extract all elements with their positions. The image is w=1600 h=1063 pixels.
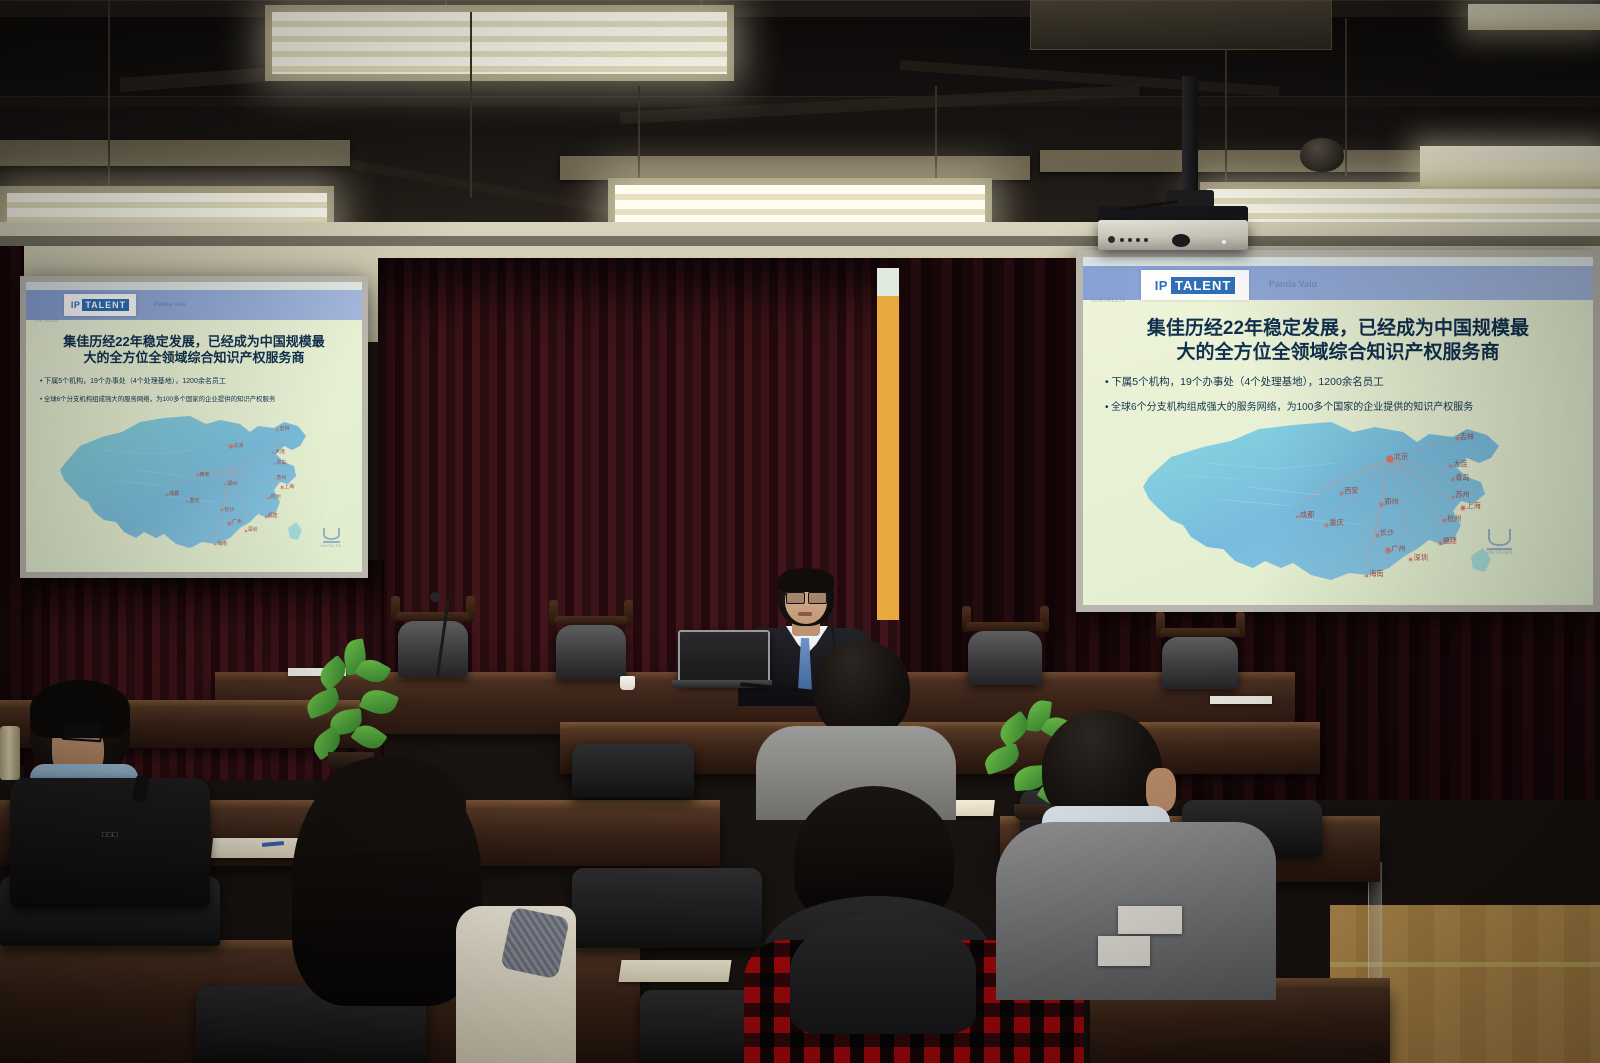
ceiling-speaker (1300, 138, 1344, 172)
front-desk-paper (618, 960, 731, 982)
map-city-label: 海南 (217, 540, 227, 547)
logo-talent-text: TALENT (82, 299, 129, 311)
map-city-label: 郑州 (227, 480, 237, 487)
map-city-dot (268, 497, 270, 499)
slide-title-left: 集佳历经22年稳定发展，已经成为中国规模最 大的全方位全领域综合知识产权服务商 (26, 334, 362, 366)
china-map-right: 吉林北京大连青岛西安郑州苏州上海成都重庆杭州长沙广州深圳福建海南 (1119, 415, 1539, 597)
map-city-dot (1387, 456, 1393, 462)
map-city-label: 福建 (268, 512, 278, 519)
map-city-label: 广州 (232, 518, 242, 525)
projection-screen-left-frame: IP TALENT UNITALEN Panda Valu 集佳历经22年稳定发… (20, 276, 368, 578)
map-city-dot (1456, 437, 1459, 440)
projection-screen-left: IP TALENT UNITALEN Panda Valu 集佳历经22年稳定发… (26, 282, 362, 572)
projection-screen-right-frame: IP TALENT UNITALEN Panda Valu 集佳历经22年稳定发… (1076, 250, 1600, 612)
slide-title-line2-left: 大的全方位全领域综合知识产权服务商 (40, 350, 348, 366)
backpack-logo: □□□ (102, 830, 118, 839)
presentation-room-photo: IP TALENT UNITALEN Panda Valu 集佳历经22年稳定发… (0, 0, 1600, 1063)
map-city-label: 广州 (1391, 544, 1405, 554)
map-city-dot (1376, 534, 1379, 537)
map-city-dot (265, 516, 267, 518)
map-city-label: 上海 (1466, 501, 1480, 511)
slide-title-line1-right: 集佳历经22年稳定发展，已经成为中国规模最 (1105, 317, 1571, 341)
map-city-label: 上海 (284, 483, 294, 490)
stage-curtain-dark-right (900, 258, 1080, 678)
map-city-dot (1386, 548, 1391, 553)
map-city-label: 青岛 (1455, 473, 1469, 483)
slide-bullet2-left: 全球6个分支机构组成强大的服务网络，为100多个国家的企业提供的知识产权服务 (40, 394, 275, 403)
map-city-dot (1340, 492, 1343, 495)
logo-watermark-right: UNITALEN (1091, 297, 1125, 304)
slide-bullet1-right: 下属5个机构，19个办事处（4个处理基地），1200余名员工 (1105, 374, 1384, 389)
audience-3-head (814, 640, 910, 738)
map-city-dot (1439, 542, 1442, 545)
hvac-duct (1030, 0, 1332, 50)
map-city-label: 大连 (275, 448, 285, 455)
map-city-label: 深圳 (1414, 553, 1428, 563)
presenter-mouth (798, 612, 812, 616)
slide-title-right: 集佳历经22年稳定发展，已经成为中国规模最 大的全方位全领域综合知识产权服务商 (1083, 317, 1593, 364)
ceiling-slab-left (0, 140, 350, 166)
brand-logo-right: IP TALENT (1141, 270, 1249, 300)
map-city-label: 重庆 (1329, 518, 1343, 528)
ceiling-slab-center (560, 156, 1030, 180)
map-city-label: 杭州 (1447, 514, 1461, 524)
map-city-label: 西安 (1344, 486, 1358, 496)
map-city-label: 青岛 (276, 459, 286, 466)
map-city-dot (281, 486, 283, 488)
slide-title-line2-right: 大的全方位全领域综合知识产权服务商 (1105, 341, 1571, 365)
audience-4-hood-front (790, 914, 976, 1034)
presenter-glasses-right (808, 592, 827, 604)
microphone-head (430, 592, 440, 602)
right-desk-paper (1098, 936, 1150, 966)
projector-pipe (1182, 76, 1198, 196)
audience-5-papers (1118, 906, 1182, 934)
china-map-left: 吉林北京大连青岛西安郑州苏州上海成都重庆杭州长沙广州深圳福建海南 (44, 410, 334, 562)
map-city-label: 吉林 (279, 425, 289, 432)
map-city-label: 大连 (1453, 459, 1467, 469)
logo-partner-right: Panda Valu (1269, 279, 1317, 289)
logo-ip-text-right: IP (1155, 278, 1168, 293)
slide-bullet2-right: 全球6个分支机构组成强大的服务网络，为100多个国家的企业提供的知识产权服务 (1105, 398, 1473, 413)
audience-1-glasses (61, 721, 102, 743)
empty-chair-3 (572, 868, 762, 948)
map-city-label: 长沙 (1380, 528, 1394, 538)
logo-partner-left: Panda Valu (154, 302, 186, 308)
slide-watermark-right: UNITALEN (1475, 529, 1523, 556)
logo-ip-text: IP (71, 300, 81, 310)
presenter-hair (778, 568, 834, 592)
map-city-label: 成都 (169, 490, 179, 497)
map-city-label: 北京 (1394, 452, 1408, 462)
map-city-label: 福建 (1443, 536, 1457, 546)
map-city-label: 吉林 (1460, 432, 1474, 442)
wall-shadow-strip (0, 236, 1600, 246)
map-city-label: 海南 (1369, 569, 1383, 579)
map-city-dot (1380, 503, 1383, 506)
table-papers-right (1210, 696, 1272, 704)
brand-logo-left: IP TALENT (64, 294, 136, 316)
map-city-label: 长沙 (224, 506, 234, 513)
map-city-label: 苏州 (276, 474, 286, 481)
audience-2-hair-crown (316, 756, 466, 852)
desk-row-3-right (1090, 990, 1390, 1063)
audience-1-backpack[interactable] (10, 778, 210, 908)
presenter-glasses (786, 592, 805, 604)
map-city-label: 成都 (1300, 510, 1314, 520)
map-city-label: 北京 (234, 442, 244, 449)
logo-watermark-left: UNITALEN (34, 318, 58, 324)
audience-member-glasses: □□□ (10, 680, 240, 910)
ceiling-projector (1098, 220, 1248, 250)
map-city-label: 重庆 (189, 497, 199, 504)
potted-plant-left (300, 640, 410, 770)
logo-talent-text-right: TALENT (1171, 277, 1235, 294)
map-city-label: 西安 (200, 471, 210, 478)
slide-title-line1-left: 集佳历经22年稳定发展，已经成为中国规模最 (40, 334, 348, 350)
map-city-label: 深圳 (248, 526, 258, 533)
map-city-label: 杭州 (271, 493, 281, 500)
slide-watermark-text-left: UNITALEN (314, 543, 348, 548)
slide-header-ghost-right (1083, 257, 1593, 266)
map-city-label: 苏州 (1455, 490, 1469, 500)
map-city-dot (228, 522, 231, 525)
audience-member-long-hair (256, 756, 576, 1063)
slide-bullet1-left: 下属5个机构，19个办事处（4个处理基地），1200余名员工 (40, 376, 226, 386)
slide-watermark-text-right: UNITALEN (1475, 550, 1523, 556)
paper-cup (620, 676, 635, 690)
empty-chair-2 (572, 744, 694, 798)
slide-watermark-left: UNITALEN (314, 528, 348, 548)
ceiling-light-far-right (1420, 146, 1600, 186)
projection-screen-right: IP TALENT UNITALEN Panda Valu 集佳历经22年稳定发… (1083, 257, 1593, 605)
map-city-dot (245, 530, 247, 532)
map-city-label: 郑州 (1384, 497, 1398, 507)
slide-header-ghost-left (26, 282, 362, 290)
ceiling-light-right-edge (1468, 4, 1600, 30)
